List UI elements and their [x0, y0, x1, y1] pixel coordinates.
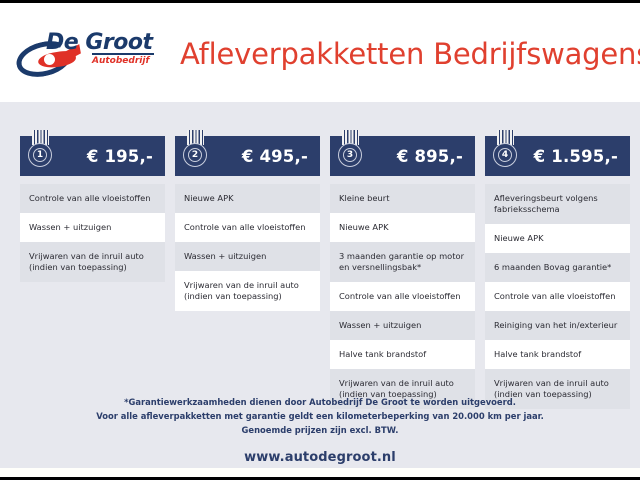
feature-item: Controle van alle vloeistoffen [20, 184, 165, 213]
medal-inner-ring: 1 [33, 148, 47, 162]
medal-inner-ring: 4 [498, 148, 512, 162]
medal-disc: 4 [493, 143, 517, 167]
feature-item: Afleveringsbeurt volgensfabrieksschema [485, 184, 630, 224]
logo-inner-hole [44, 54, 55, 65]
feature-item: Halve tank brandstof [330, 340, 475, 369]
package-feature-list: Afleveringsbeurt volgensfabrieksschemaNi… [485, 184, 630, 409]
medal-rank-number: 4 [502, 151, 508, 160]
package-columns: 1€ 195,-Controle van alle vloeistoffenWa… [20, 136, 630, 409]
medal-ribbon-icon: 2 [182, 130, 208, 174]
website-url[interactable]: www.autodegroot.nl [0, 450, 640, 465]
feature-item: Wassen + uitzuigen [175, 242, 320, 271]
logo-company-name: De Groot [46, 30, 153, 55]
package-header-bar[interactable]: 1€ 195,- [20, 136, 165, 176]
feature-item: Halve tank brandstof [485, 340, 630, 369]
package-column: 4€ 1.595,-Afleveringsbeurt volgensfabrie… [485, 136, 630, 409]
medal-disc: 1 [28, 143, 52, 167]
feature-item: Controle van alle vloeistoffen [330, 282, 475, 311]
feature-item: Wassen + uitzuigen [330, 311, 475, 340]
medal-disc: 2 [183, 143, 207, 167]
bottom-strip [0, 468, 640, 480]
feature-item: Nieuwe APK [175, 184, 320, 213]
logo-subtitle: Autobedrijf [92, 56, 149, 66]
feature-item: Vrijwaren van de inruil auto(indien van … [175, 271, 320, 311]
package-header-bar[interactable]: 3€ 895,- [330, 136, 475, 176]
medal-ribbon-icon: 4 [492, 130, 518, 174]
footnote-line: *Garantiewerkzaamheden dienen door Autob… [0, 395, 640, 409]
package-column: 1€ 195,-Controle van alle vloeistoffenWa… [20, 136, 165, 282]
medal-disc: 3 [338, 143, 362, 167]
medal-inner-ring: 2 [188, 148, 202, 162]
feature-item: Controle van alle vloeistoffen [485, 282, 630, 311]
package-price: € 195,- [87, 147, 153, 166]
footnote-line: Genoemde prijzen zijn excl. BTW. [0, 423, 640, 437]
package-header-bar[interactable]: 2€ 495,- [175, 136, 320, 176]
package-feature-list: Kleine beurtNieuwe APK3 maanden garantie… [330, 184, 475, 409]
package-header-bar[interactable]: 4€ 1.595,- [485, 136, 630, 176]
feature-item: 6 maanden Bovag garantie* [485, 253, 630, 282]
page-title: Afleverpakketten Bedrijfswagens [180, 37, 640, 71]
feature-item: Kleine beurt [330, 184, 475, 213]
package-column: 2€ 495,-Nieuwe APKControle van alle vloe… [175, 136, 320, 311]
feature-item: Reiniging van het in/exterieur [485, 311, 630, 340]
medal-rank-number: 3 [347, 151, 353, 160]
medal-ribbon-icon: 3 [337, 130, 363, 174]
package-price: € 495,- [242, 147, 308, 166]
medal-ribbon-icon: 1 [27, 130, 53, 174]
package-price: € 895,- [397, 147, 463, 166]
feature-item: Nieuwe APK [485, 224, 630, 253]
medal-rank-number: 2 [192, 151, 198, 160]
brand-logo[interactable]: De Groot Autobedrijf [0, 6, 172, 102]
medal-rank-number: 1 [37, 151, 43, 160]
footnote-line: Voor alle afleverpakketten met garantie … [0, 409, 640, 423]
feature-item: Nieuwe APK [330, 213, 475, 242]
package-column: 3€ 895,-Kleine beurtNieuwe APK3 maanden … [330, 136, 475, 409]
page-header: De Groot Autobedrijf Afleverpakketten Be… [0, 6, 640, 102]
package-feature-list: Nieuwe APKControle van alle vloeistoffen… [175, 184, 320, 311]
de-groot-logo-icon: De Groot Autobedrijf [16, 28, 156, 80]
feature-item: Wassen + uitzuigen [20, 213, 165, 242]
medal-inner-ring: 3 [343, 148, 357, 162]
feature-item: Vrijwaren van de inruil auto(indien van … [20, 242, 165, 282]
package-feature-list: Controle van alle vloeistoffenWassen + u… [20, 184, 165, 282]
feature-item: Controle van alle vloeistoffen [175, 213, 320, 242]
feature-item: 3 maanden garantie op motoren versnellin… [330, 242, 475, 282]
promo-page: De Groot Autobedrijf Afleverpakketten Be… [0, 0, 640, 480]
package-price: € 1.595,- [534, 147, 618, 166]
logo-underline [92, 53, 154, 55]
page-footer: *Garantiewerkzaamheden dienen door Autob… [0, 395, 640, 465]
